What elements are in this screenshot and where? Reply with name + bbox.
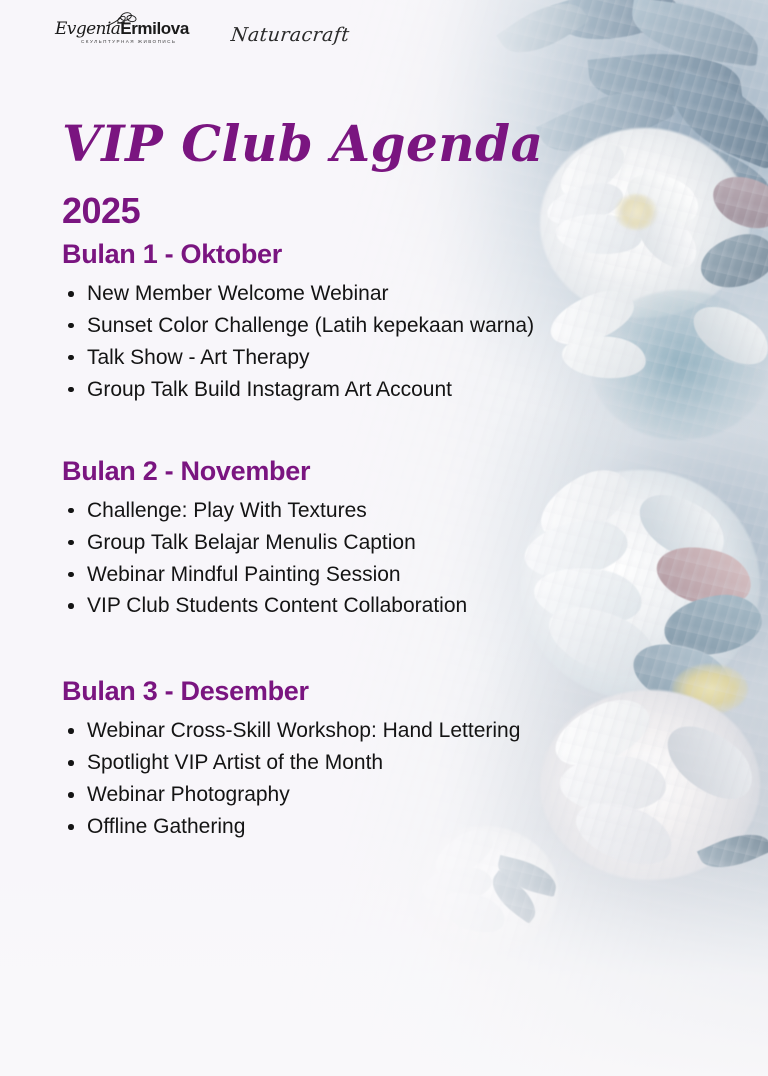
vip-club-agenda-poster: EvgeniaErmilova СКУЛЬПТУРНАЯ ЖИВОПИСЬ Na… bbox=[0, 0, 768, 1076]
list-item: Group Talk Build Instagram Art Account bbox=[60, 374, 768, 406]
agenda-list-2: Challenge: Play With Textures Group Talk… bbox=[60, 495, 768, 623]
page-title: VIP Club Agenda bbox=[62, 118, 768, 169]
list-item: Webinar Mindful Painting Session bbox=[60, 559, 768, 591]
agenda-list-3: Webinar Cross-Skill Workshop: Hand Lette… bbox=[60, 715, 768, 843]
month-heading-2: Bulan 2 - November bbox=[62, 456, 768, 487]
list-item: Talk Show - Art Therapy bbox=[60, 342, 768, 374]
flower-icon bbox=[105, 11, 139, 31]
list-item: Spotlight VIP Artist of the Month bbox=[60, 747, 768, 779]
list-item: Offline Gathering bbox=[60, 811, 768, 843]
list-item: Webinar Cross-Skill Workshop: Hand Lette… bbox=[60, 715, 768, 747]
list-item: New Member Welcome Webinar bbox=[60, 278, 768, 310]
logo-naturacraft: Naturacraft bbox=[230, 24, 351, 46]
month-section-1: Bulan 1 - Oktober New Member Welcome Web… bbox=[60, 239, 768, 406]
list-item: Webinar Photography bbox=[60, 779, 768, 811]
list-item: Challenge: Play With Textures bbox=[60, 495, 768, 527]
section-spacer bbox=[60, 426, 768, 456]
agenda-year: 2025 bbox=[62, 193, 768, 229]
month-section-2: Bulan 2 - November Challenge: Play With … bbox=[60, 456, 768, 623]
list-item: Group Talk Belajar Menulis Caption bbox=[60, 527, 768, 559]
month-section-3: Bulan 3 - Desember Webinar Cross-Skill W… bbox=[60, 676, 768, 843]
list-item: Sunset Color Challenge (Latih kepekaan w… bbox=[60, 310, 768, 342]
month-heading-3: Bulan 3 - Desember bbox=[62, 676, 768, 707]
agenda-content: VIP Club Agenda 2025 Bulan 1 - Oktober N… bbox=[0, 118, 768, 865]
month-heading-1: Bulan 1 - Oktober bbox=[62, 239, 768, 270]
brand-header: EvgeniaErmilova СКУЛЬПТУРНАЯ ЖИВОПИСЬ Na… bbox=[55, 20, 349, 46]
logo-evgenia-ermilova: EvgeniaErmilova СКУЛЬПТУРНАЯ ЖИВОПИСЬ bbox=[55, 20, 189, 45]
logo-tagline: СКУЛЬПТУРНАЯ ЖИВОПИСЬ bbox=[81, 40, 189, 45]
agenda-list-1: New Member Welcome Webinar Sunset Color … bbox=[60, 278, 768, 406]
list-item: VIP Club Students Content Collaboration bbox=[60, 590, 768, 622]
section-spacer bbox=[60, 644, 768, 676]
